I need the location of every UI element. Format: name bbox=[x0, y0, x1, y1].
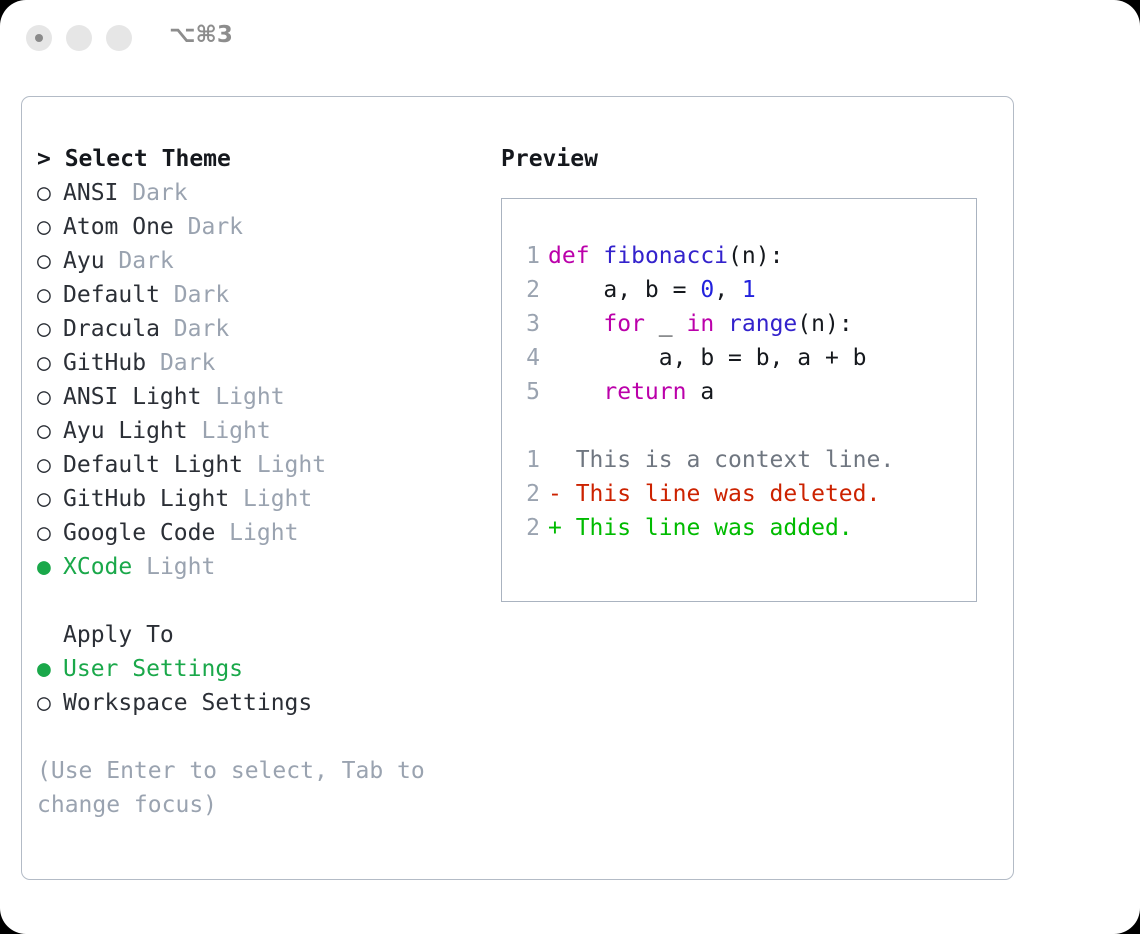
theme-option-atom-one[interactable]: ○Atom One Dark bbox=[37, 210, 492, 244]
theme-option-github-light[interactable]: ○GitHub Light Light bbox=[37, 482, 492, 516]
theme-option-kind: Dark bbox=[160, 282, 229, 308]
keyboard-shortcut-label: ⌥⌘3 bbox=[169, 22, 233, 48]
code-line-number: 1 bbox=[514, 239, 540, 273]
radio-unselected-icon: ○ bbox=[37, 312, 63, 346]
radio-unselected-icon: ○ bbox=[37, 278, 63, 312]
theme-option-ayu-light[interactable]: ○Ayu Light Light bbox=[37, 414, 492, 448]
diff-line-text: This is a context line. bbox=[548, 447, 894, 473]
radio-selected-icon: ● bbox=[37, 652, 63, 686]
radio-unselected-icon: ○ bbox=[37, 516, 63, 550]
apply-to-header: Apply To bbox=[37, 618, 492, 652]
code-line: 3 for _ in range(n): bbox=[514, 307, 976, 341]
code-token-kw: for bbox=[603, 311, 645, 337]
theme-option-default-light[interactable]: ○Default Light Light bbox=[37, 448, 492, 482]
apply-to-header-indent bbox=[37, 618, 63, 652]
theme-option-label: Google Code bbox=[63, 520, 215, 546]
code-token-pl bbox=[590, 243, 604, 269]
theme-option-ansi-light[interactable]: ○ANSI Light Light bbox=[37, 380, 492, 414]
theme-option-kind: Dark bbox=[160, 316, 229, 342]
preview-column: Preview 1def fibonacci(n):2 a, b = 0, 13… bbox=[501, 142, 1001, 602]
apply-to-option-workspace-settings[interactable]: ○Workspace Settings bbox=[37, 686, 492, 720]
theme-option-label: GitHub Light bbox=[63, 486, 229, 512]
radio-unselected-icon: ○ bbox=[37, 176, 63, 210]
radio-unselected-icon: ○ bbox=[37, 414, 63, 448]
theme-option-ayu[interactable]: ○Ayu Dark bbox=[37, 244, 492, 278]
theme-option-google-code[interactable]: ○Google Code Light bbox=[37, 516, 492, 550]
diff-line-add: 2+ This line was added. bbox=[514, 511, 976, 545]
preview-header: Preview bbox=[501, 142, 1001, 176]
code-token-pl bbox=[714, 311, 728, 337]
code-line: 4 a, b = b, a + b bbox=[514, 341, 976, 375]
diff-line-del: 2- This line was deleted. bbox=[514, 477, 976, 511]
code-line: 1def fibonacci(n): bbox=[514, 239, 976, 273]
app-window: ⌥⌘3 > Select Theme ○ANSI Dark○Atom One D… bbox=[0, 0, 1140, 934]
theme-option-kind: Dark bbox=[105, 248, 174, 274]
code-token-pl: (n): bbox=[728, 243, 783, 269]
code-sample: 1def fibonacci(n):2 a, b = 0, 13 for _ i… bbox=[514, 239, 976, 409]
radio-unselected-icon: ○ bbox=[37, 346, 63, 380]
theme-list: ○ANSI Dark○Atom One Dark○Ayu Dark○Defaul… bbox=[37, 176, 492, 584]
theme-option-xcode[interactable]: ●XCode Light bbox=[37, 550, 492, 584]
code-token-pl: _ bbox=[645, 311, 687, 337]
code-token-kw: in bbox=[686, 311, 714, 337]
apply-to-options: ●User Settings○Workspace Settings bbox=[37, 652, 492, 720]
code-token-fn: range bbox=[728, 311, 797, 337]
code-token-num: 0 bbox=[700, 277, 714, 303]
diff-line-ctx: 1 This is a context line. bbox=[514, 443, 976, 477]
window-titlebar: ⌥⌘3 bbox=[0, 0, 1140, 78]
radio-unselected-icon: ○ bbox=[37, 244, 63, 278]
theme-option-label: Atom One bbox=[63, 214, 174, 240]
theme-option-kind: Dark bbox=[174, 214, 243, 240]
radio-unselected-icon: ○ bbox=[37, 686, 63, 720]
theme-option-label: Default Light bbox=[63, 452, 243, 478]
diff-line-text: + This line was added. bbox=[548, 515, 853, 541]
code-token-pl: (n): bbox=[797, 311, 852, 337]
theme-option-label: XCode bbox=[63, 554, 132, 580]
theme-option-github[interactable]: ○GitHub Dark bbox=[37, 346, 492, 380]
radio-unselected-icon: ○ bbox=[37, 210, 63, 244]
code-line-number: 4 bbox=[514, 341, 540, 375]
theme-option-kind: Light bbox=[188, 418, 271, 444]
theme-picker-panel: > Select Theme ○ANSI Dark○Atom One Dark○… bbox=[21, 96, 1014, 880]
code-token-pl: a bbox=[686, 379, 714, 405]
window-dot-2[interactable] bbox=[66, 25, 92, 51]
diff-line-text: - This line was deleted. bbox=[548, 481, 880, 507]
theme-option-dracula[interactable]: ○Dracula Dark bbox=[37, 312, 492, 346]
theme-option-label: Ayu bbox=[63, 248, 105, 274]
theme-option-label: ANSI bbox=[63, 180, 118, 206]
code-token-pl: a, b = b, a + b bbox=[548, 345, 867, 371]
theme-option-label: Default bbox=[63, 282, 160, 308]
code-line-number: 5 bbox=[514, 375, 540, 409]
select-theme-header: > Select Theme bbox=[37, 142, 492, 176]
code-line: 2 a, b = 0, 1 bbox=[514, 273, 976, 307]
theme-list-column: > Select Theme ○ANSI Dark○Atom One Dark○… bbox=[37, 142, 492, 822]
code-line-number: 3 bbox=[514, 307, 540, 341]
diff-line-number: 2 bbox=[514, 511, 540, 545]
theme-option-label: Dracula bbox=[63, 316, 160, 342]
diff-line-number: 1 bbox=[514, 443, 540, 477]
theme-option-label: GitHub bbox=[63, 350, 146, 376]
theme-option-kind: Dark bbox=[118, 180, 187, 206]
window-dot-3[interactable] bbox=[106, 25, 132, 51]
code-token-pl: a, b = bbox=[548, 277, 700, 303]
code-token-kw: return bbox=[603, 379, 686, 405]
theme-option-label: ANSI Light bbox=[63, 384, 201, 410]
theme-option-kind: Light bbox=[215, 520, 298, 546]
apply-to-option-user-settings[interactable]: ●User Settings bbox=[37, 652, 492, 686]
radio-selected-icon: ● bbox=[37, 550, 63, 584]
diff-sample: 1 This is a context line.2- This line wa… bbox=[514, 443, 976, 545]
theme-option-label: Ayu Light bbox=[63, 418, 188, 444]
window-dot-active-indicator bbox=[35, 34, 43, 42]
code-token-kw: def bbox=[548, 243, 590, 269]
theme-option-kind: Dark bbox=[146, 350, 215, 376]
radio-unselected-icon: ○ bbox=[37, 448, 63, 482]
preview-box: 1def fibonacci(n):2 a, b = 0, 13 for _ i… bbox=[501, 198, 977, 602]
code-line-number: 2 bbox=[514, 273, 540, 307]
theme-option-default[interactable]: ○Default Dark bbox=[37, 278, 492, 312]
diff-line-number: 2 bbox=[514, 477, 540, 511]
radio-unselected-icon: ○ bbox=[37, 482, 63, 516]
code-token-num: 1 bbox=[742, 277, 756, 303]
theme-option-kind: Light bbox=[132, 554, 215, 580]
theme-option-kind: Light bbox=[243, 452, 326, 478]
apply-to-option-label: Workspace Settings bbox=[63, 690, 312, 716]
apply-to-option-label: User Settings bbox=[63, 656, 243, 682]
window-dot-active[interactable] bbox=[26, 25, 52, 51]
list-spacer bbox=[37, 584, 492, 618]
code-line: 5 return a bbox=[514, 375, 976, 409]
radio-unselected-icon: ○ bbox=[37, 380, 63, 414]
code-token-pl bbox=[548, 379, 603, 405]
theme-option-ansi[interactable]: ○ANSI Dark bbox=[37, 176, 492, 210]
code-token-fn: fibonacci bbox=[603, 243, 728, 269]
code-token-pl bbox=[548, 311, 603, 337]
keyboard-hint: (Use Enter to select, Tab to change focu… bbox=[37, 754, 457, 822]
apply-to-header-label: Apply To bbox=[63, 622, 174, 648]
theme-option-kind: Light bbox=[229, 486, 312, 512]
code-diff-separator bbox=[514, 409, 976, 443]
theme-option-kind: Light bbox=[201, 384, 284, 410]
code-token-pl: , bbox=[714, 277, 742, 303]
